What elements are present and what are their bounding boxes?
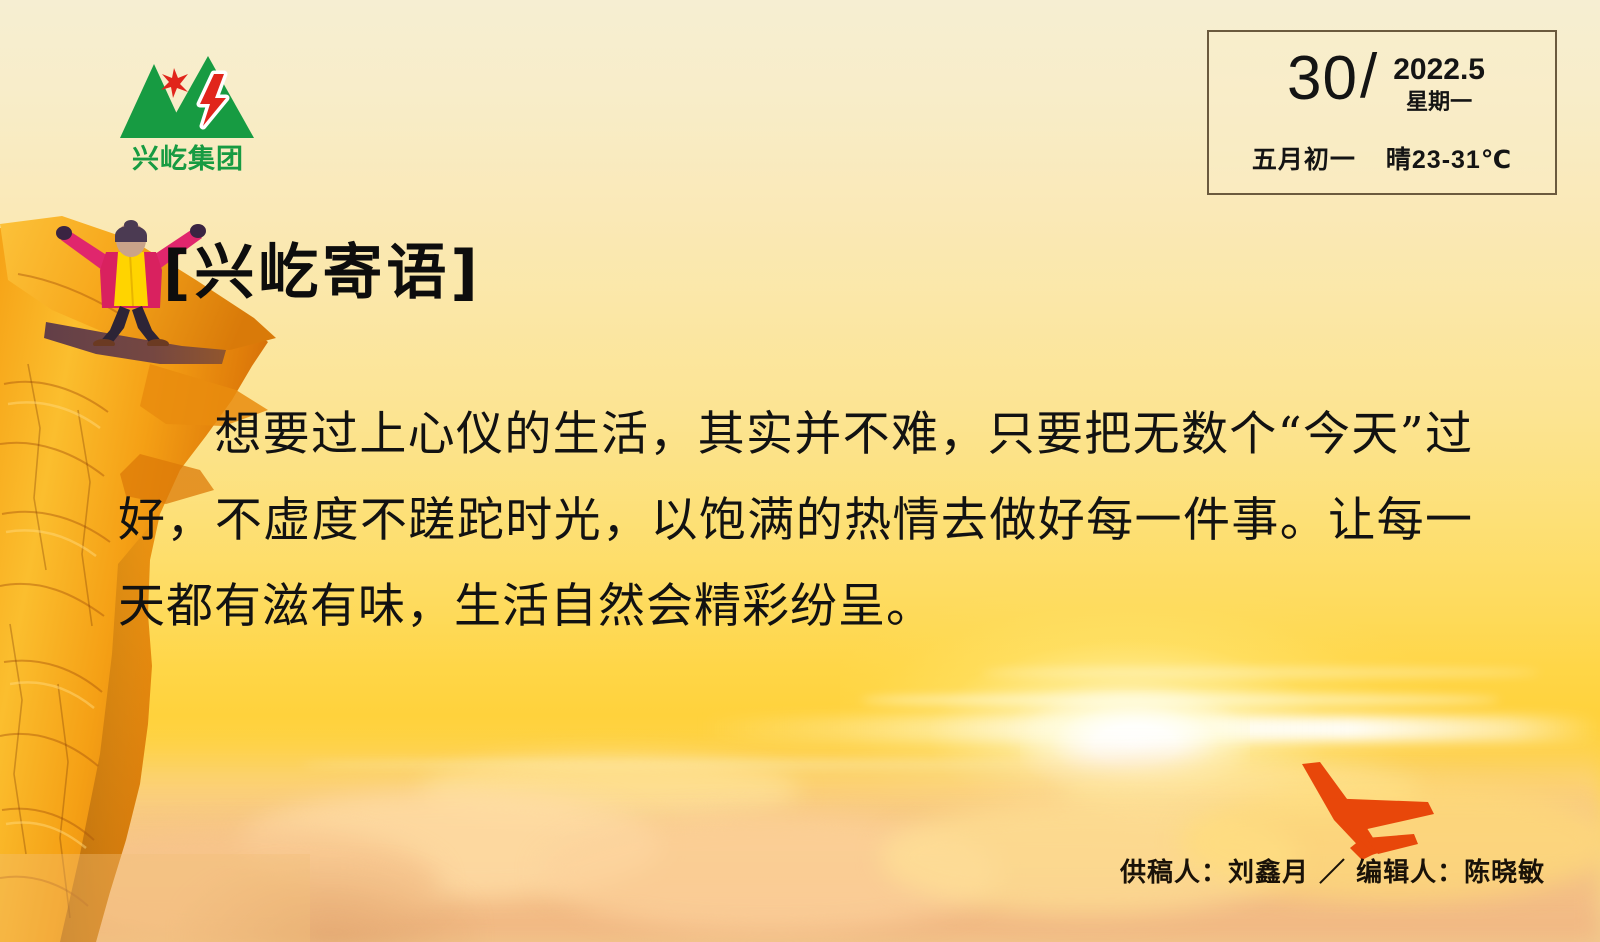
date-card: 30 / 2022.5 星期一 五月初一 晴23-31℃ xyxy=(1207,30,1557,195)
weather-info: 晴23-31℃ xyxy=(1386,140,1512,176)
date-weekday: 星期一 xyxy=(1406,88,1472,117)
date-card-bottom-row: 五月初一 晴23-31℃ xyxy=(1209,140,1555,176)
body-paragraph: 想要过上心仪的生活，其实并不难，只要把无数个“今天”过好，不虚度不蹉跎时光，以饱… xyxy=(118,392,1473,650)
date-year-week-block: 2022.5 星期一 xyxy=(1393,48,1485,116)
page-title: [兴屹寄语] xyxy=(163,243,482,303)
poster-canvas: 兴屹集团 30 / 2022.5 星期一 五月初一 晴23-31℃ [兴屹寄语]… xyxy=(0,0,1600,942)
date-day-number: 30 xyxy=(1287,48,1358,110)
company-logo: 兴屹集团 xyxy=(112,46,264,176)
paragraph-text: 想要过上心仪的生活，其实并不难，只要把无数个“今天”过好，不虚度不蹉跎时光，以饱… xyxy=(118,407,1473,634)
credits-line: 供稿人：刘鑫月 ／ 编辑人：陈晓敏 xyxy=(1120,852,1545,889)
lunar-date: 五月初一 xyxy=(1252,140,1356,176)
date-year-month: 2022.5 xyxy=(1393,54,1485,86)
date-card-top-row: 30 / 2022.5 星期一 xyxy=(1209,48,1555,116)
date-slash: / xyxy=(1360,46,1377,108)
logo-wordmark: 兴屹集团 xyxy=(132,143,244,175)
